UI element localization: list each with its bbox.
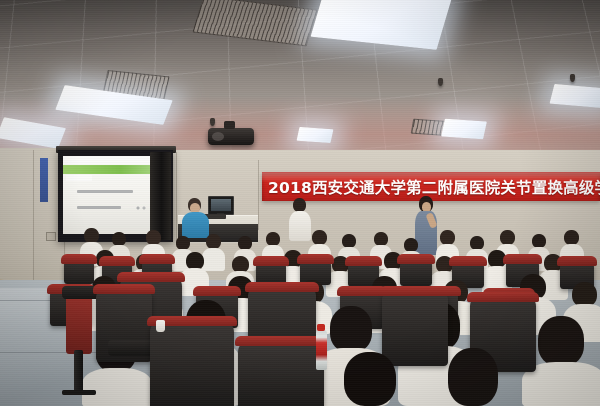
person-head (266, 232, 280, 246)
event-banner: 2018西安交通大学第二附属医院关节置换高级学习 (262, 172, 600, 201)
person-head (344, 352, 396, 406)
sprinkler-icon (210, 118, 215, 126)
wall-blue-strip (40, 158, 48, 202)
person-head (176, 236, 190, 250)
banner-gloss (262, 173, 600, 182)
seat-pedestal-leg (74, 350, 83, 392)
seat-foot (62, 390, 96, 395)
auditorium-seat[interactable] (382, 290, 448, 366)
person-head (500, 230, 515, 245)
wall-seam (176, 152, 177, 247)
person-head (564, 230, 579, 245)
wall-seam (258, 160, 259, 230)
person-head (532, 234, 546, 248)
ceiling-light (297, 127, 334, 143)
person-head (312, 230, 327, 245)
auditorium-seat[interactable] (64, 258, 94, 284)
photo-scene: 2018西安交通大学第二附属医院关节置换高级学习 (0, 0, 600, 406)
slide-text-line (77, 190, 133, 193)
ceiling-projector (208, 128, 254, 145)
slide-surface (63, 156, 158, 234)
person-head (538, 316, 584, 366)
person-torso (289, 211, 311, 241)
bottle-cap (317, 324, 325, 331)
monitor-screen (211, 199, 231, 211)
sprinkler-icon (570, 74, 575, 82)
person-head (330, 306, 372, 352)
person-head (112, 232, 126, 246)
ceiling (0, 0, 600, 165)
ceiling-light (441, 119, 487, 140)
beverage-bottle (316, 330, 327, 370)
person-head (146, 230, 161, 245)
person-head (404, 238, 418, 252)
auditorium-seat[interactable] (150, 320, 234, 406)
person-torso (202, 248, 225, 271)
person-head (206, 234, 221, 249)
person-head (374, 232, 388, 246)
person-torso (82, 368, 152, 406)
auditorium-seat[interactable] (238, 340, 324, 406)
person-head (293, 198, 306, 212)
slide-header-tab (66, 175, 92, 181)
person-head (84, 228, 99, 243)
wall-seam (33, 150, 34, 290)
person-head (342, 234, 356, 248)
slide-bullet-dots (136, 206, 150, 210)
auditorium-seat[interactable] (400, 258, 432, 286)
wall-speaker-column (150, 152, 171, 240)
slide-header-band (63, 165, 158, 174)
person-head (440, 230, 455, 245)
slide-text-line (77, 206, 121, 209)
paper-cup (156, 320, 165, 332)
seat-side-panel (66, 292, 92, 354)
seat-armrest (108, 340, 156, 356)
sprinkler-icon (438, 78, 443, 86)
person-torso (182, 212, 209, 238)
person-head (238, 236, 252, 250)
person-head (470, 236, 484, 250)
person-head (448, 348, 498, 406)
wall-outlet (46, 232, 56, 241)
